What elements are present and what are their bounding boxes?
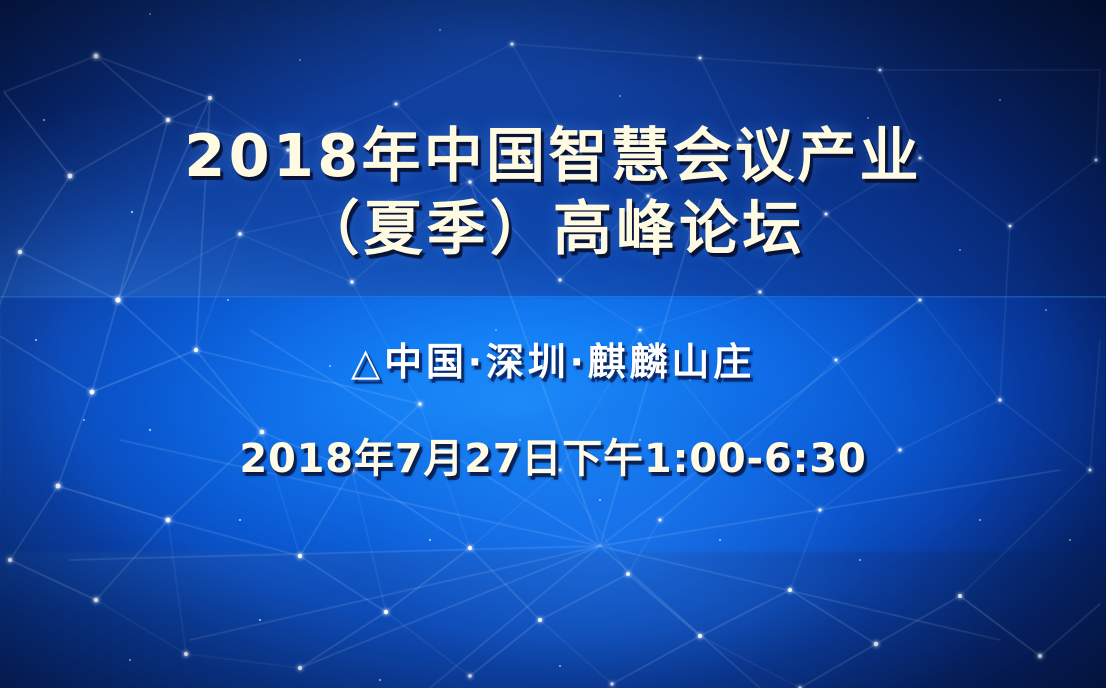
title-line-2: （夏季）高峰论坛	[184, 199, 921, 259]
title-line-1: 2018年中国智慧会议产业	[184, 126, 921, 186]
datetime-text: 2018年7月27日下午1:00-6:30	[239, 426, 866, 484]
poster-content: 2018年中国智慧会议产业 （夏季）高峰论坛 △中国·深圳·麒麟山庄 2018年…	[0, 0, 1106, 688]
conference-poster: 2018年中国智慧会议产业 （夏季）高峰论坛 △中国·深圳·麒麟山庄 2018年…	[0, 0, 1106, 688]
page-title: 2018年中国智慧会议产业 （夏季）高峰论坛	[184, 126, 921, 259]
venue-text: △中国·深圳·麒麟山庄	[351, 331, 755, 386]
